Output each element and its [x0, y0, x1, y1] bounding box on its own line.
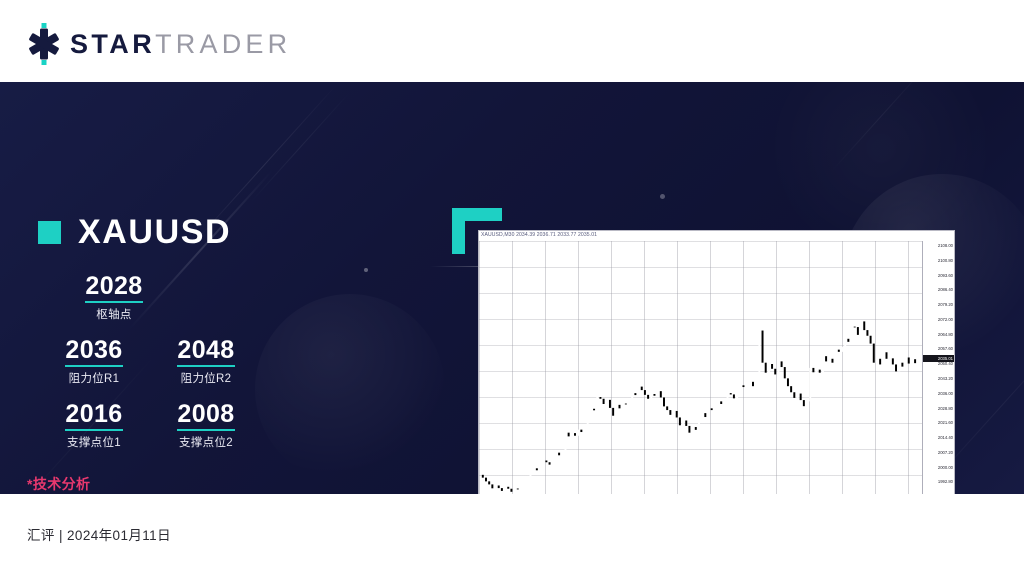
price-tick: 2100.80 — [938, 259, 953, 263]
level-label: 枢轴点 — [58, 306, 170, 322]
brand-wordmark: STARTRADER — [70, 31, 291, 58]
brand-logo[interactable]: STARTRADER — [27, 27, 291, 61]
level-underline — [177, 365, 235, 367]
price-tick: 2064.80 — [938, 333, 953, 337]
level-underline — [65, 429, 123, 431]
decorative-dot — [364, 268, 368, 272]
level-label: 阻力位R1 — [38, 370, 150, 386]
page-title: XAUUSD — [78, 215, 231, 249]
price-chart-window[interactable]: XAUUSD,M30 2034.39 2036.71 2033.77 2035.… — [478, 230, 955, 494]
pivot-row-resistance: 2036 阻力位R1 2048 阻力位R2 — [38, 336, 298, 400]
page-footer: 汇评 | 2024年01月11日 — [0, 494, 1024, 576]
level-underline — [85, 301, 143, 303]
pivot-levels: 2028 枢轴点 2036 阻力位R1 2048 阻力位R2 2016 支撑点位… — [38, 272, 298, 464]
decorative-streak — [830, 82, 931, 173]
accent-square-icon — [38, 221, 61, 244]
level-support-1: 2016 支撑点位1 — [38, 400, 150, 450]
level-value: 2016 — [38, 400, 150, 428]
level-label: 阻力位R2 — [150, 370, 262, 386]
technical-analysis-block: *技术分析 多头持仓在枢轴点以上，目标位为阻力位R1及阻力位R2。若低于枢轴点，… — [27, 474, 417, 494]
price-tick: 2028.80 — [938, 407, 953, 411]
candlestick-series — [479, 241, 924, 494]
chart-price-axis: 2108.002100.802093.602086.402079.202072.… — [922, 241, 954, 494]
level-resistance-2: 2048 阻力位R2 — [150, 336, 262, 386]
price-tick: 2057.60 — [938, 347, 953, 351]
price-tick: 2108.00 — [938, 244, 953, 248]
instrument-title-row: XAUUSD — [38, 215, 231, 249]
level-label: 支撑点位1 — [38, 434, 150, 450]
price-tick: 2072.00 — [938, 318, 953, 322]
price-tick: 2043.20 — [938, 377, 953, 381]
chart-caption: XAUUSD,M30 2034.39 2036.71 2033.77 2035.… — [481, 232, 597, 241]
level-underline — [65, 365, 123, 367]
level-underline — [177, 429, 235, 431]
price-tick: 2086.40 — [938, 288, 953, 292]
decorative-dot — [660, 194, 665, 199]
price-tick: 2093.60 — [938, 274, 953, 278]
decorative-streak — [250, 91, 351, 203]
price-tick: 2079.20 — [938, 303, 953, 307]
pivot-row-support: 2016 支撑点位1 2008 支撑点位2 — [38, 400, 298, 464]
main-stage: XAUUSD 2028 枢轴点 2036 阻力位R1 2048 阻力位R2 — [0, 82, 1024, 494]
level-support-2: 2008 支撑点位2 — [150, 400, 262, 450]
level-value: 2048 — [150, 336, 262, 364]
level-value: 2008 — [150, 400, 262, 428]
footer-caption: 汇评 | 2024年01月11日 — [27, 524, 171, 544]
level-pivot: 2028 枢轴点 — [58, 272, 170, 322]
level-value: 2028 — [58, 272, 170, 300]
level-label: 支撑点位2 — [150, 434, 262, 450]
price-tick: 2014.40 — [938, 436, 953, 440]
current-price-label: 2035.01 — [923, 355, 954, 362]
page-header: STARTRADER — [0, 0, 1024, 82]
chart-plot-area[interactable] — [479, 241, 924, 494]
price-tick: 2036.00 — [938, 392, 953, 396]
brand-name-primary: STAR — [70, 29, 155, 59]
price-tick: 1992.80 — [938, 480, 953, 484]
pivot-row-pivot: 2028 枢轴点 — [38, 272, 298, 336]
brand-name-secondary: TRADER — [155, 29, 291, 59]
price-tick: 2050.40 — [938, 362, 953, 366]
price-tick: 2007.20 — [938, 451, 953, 455]
level-value: 2036 — [38, 336, 150, 364]
price-tick: 2021.60 — [938, 421, 953, 425]
analysis-title: *技术分析 — [27, 474, 417, 494]
star-asterisk-icon — [27, 27, 61, 61]
level-resistance-1: 2036 阻力位R1 — [38, 336, 150, 386]
price-tick: 2000.00 — [938, 466, 953, 470]
